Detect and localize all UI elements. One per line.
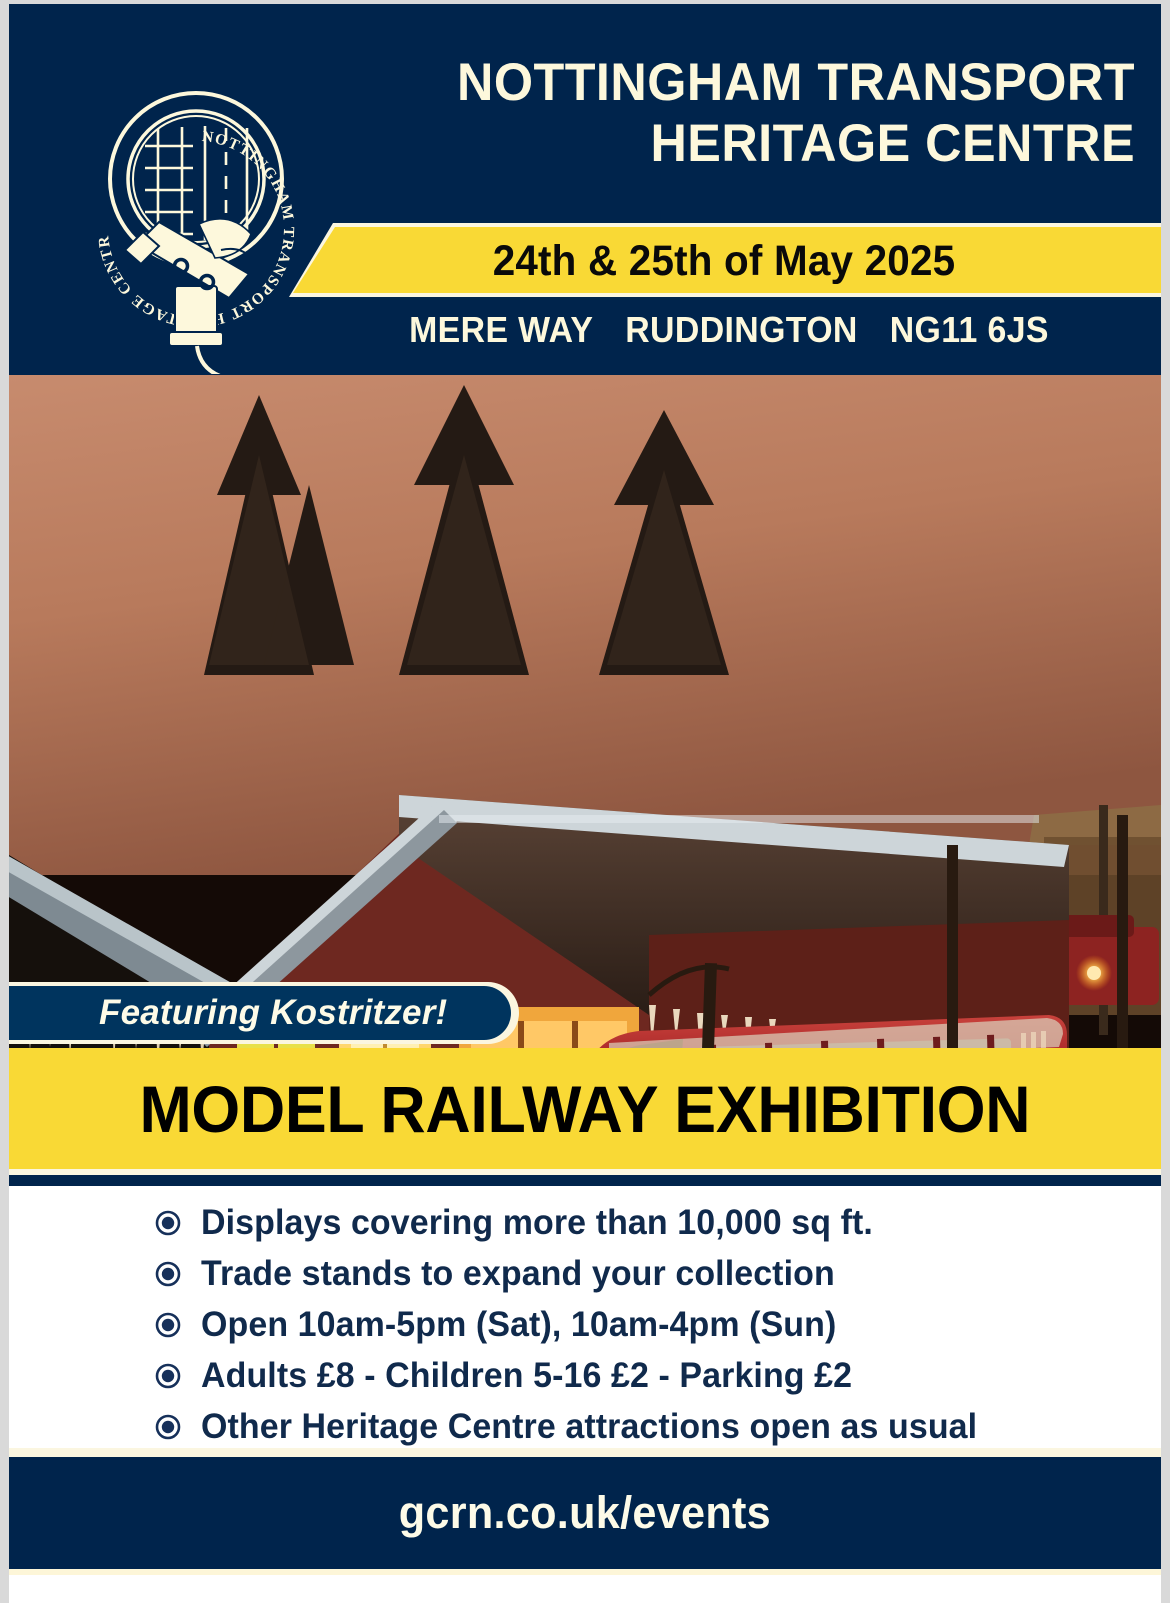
title-line-2: HERITAGE CENTRE [413, 113, 1135, 174]
bullet-dot-icon [155, 1261, 181, 1287]
list-item: Adults £8 - Children 5-16 £2 - Parking £… [155, 1352, 1161, 1399]
list-item: Open 10am-5pm (Sat), 10am-4pm (Sun) [155, 1301, 1161, 1348]
page-background: NOTTINGHAM TRANSPORT HERITAGE CENTRE NOT… [0, 0, 1170, 1603]
divider-navy [9, 1175, 1161, 1186]
page-title: NOTTINGHAM TRANSPORT HERITAGE CENTRE [413, 52, 1135, 175]
list-item: Trade stands to expand your collection [155, 1250, 1161, 1297]
address-postcode: NG11 6JS [890, 309, 1049, 350]
bullet-dot-icon [155, 1210, 181, 1236]
address-town: RUDDINGTON [625, 309, 858, 350]
event-date: 24th & 25th of May 2025 [334, 228, 1114, 294]
poster-footer: gcrn.co.uk/events [9, 1457, 1161, 1569]
venue-address: MERE WAYRUDDINGTONNG11 6JS [334, 309, 1124, 351]
bottom-whitespace [9, 1575, 1161, 1603]
address-street: MERE WAY [409, 309, 593, 350]
details-list: Displays covering more than 10,000 sq ft… [9, 1186, 1161, 1448]
list-item-label: Displays covering more than 10,000 sq ft… [201, 1203, 873, 1243]
list-item-label: Adults £8 - Children 5-16 £2 - Parking £… [201, 1356, 852, 1396]
bullet-dot-icon [155, 1414, 181, 1440]
headline-banner: MODEL RAILWAY EXHIBITION [9, 1048, 1161, 1169]
list-item-label: Trade stands to expand your collection [201, 1254, 835, 1294]
headline-text: MODEL RAILWAY EXHIBITION [140, 1071, 1031, 1147]
website-url[interactable]: gcrn.co.uk/events [399, 1487, 771, 1539]
list-item-label: Other Heritage Centre attractions open a… [201, 1407, 977, 1447]
ntthc-roundel-logo: NOTTINGHAM TRANSPORT HERITAGE CENTRE [71, 54, 321, 374]
footer-gap [9, 1448, 1161, 1457]
list-item: Displays covering more than 10,000 sq ft… [155, 1199, 1161, 1246]
title-line-1: NOTTINGHAM TRANSPORT [413, 52, 1135, 113]
feature-caption-text: Featuring Kostritzer! [99, 993, 447, 1033]
list-item: Other Heritage Centre attractions open a… [155, 1403, 1161, 1450]
list-item-label: Open 10am-5pm (Sat), 10am-4pm (Sun) [201, 1305, 836, 1345]
bullet-dot-icon [155, 1363, 181, 1389]
bullet-dot-icon [155, 1312, 181, 1338]
event-poster: NOTTINGHAM TRANSPORT HERITAGE CENTRE NOT… [9, 4, 1161, 1603]
feature-caption-pill: Featuring Kostritzer! [9, 986, 511, 1040]
event-photo [9, 375, 1161, 1048]
